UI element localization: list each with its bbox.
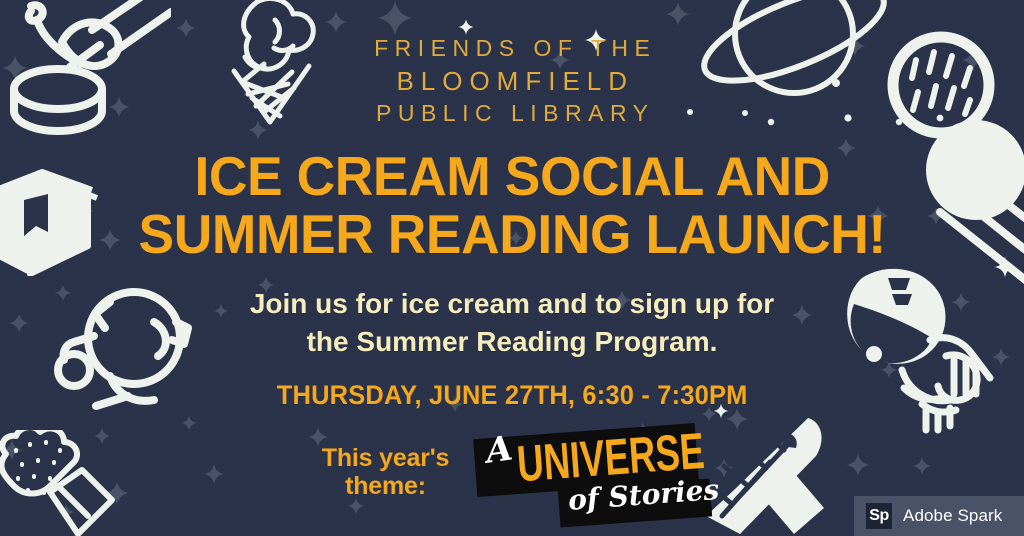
- org-line-3: PUBLIC LIBRARY: [368, 98, 657, 129]
- event-subtitle: Join us for ice cream and to sign up for…: [250, 285, 774, 359]
- event-datetime: THURSDAY, JUNE 27TH, 6:30 - 7:30PM: [277, 380, 748, 411]
- adobe-spark-watermark[interactable]: Sp Adobe Spark: [854, 496, 1024, 536]
- org-line-2: BLOOMFIELD: [368, 64, 657, 99]
- poster-content: FRIENDS OF THE BLOOMFIELD PUBLIC LIBRARY…: [0, 0, 1024, 536]
- subtitle-line-2: the Summer Reading Program.: [250, 323, 774, 360]
- org-line-1: FRIENDS OF THE: [368, 33, 657, 64]
- poster-canvas: FRIENDS OF THE BLOOMFIELD PUBLIC LIBRARY…: [0, 0, 1024, 536]
- headline-line-2: SUMMER READING LAUNCH!: [138, 205, 885, 263]
- subtitle-line-1: Join us for ice cream and to sign up for: [250, 285, 774, 322]
- event-headline: ICE CREAM SOCIAL AND SUMMER READING LAUN…: [138, 147, 885, 264]
- headline-line-1: ICE CREAM SOCIAL AND: [138, 147, 885, 205]
- adobe-spark-label: Adobe Spark: [903, 506, 1002, 526]
- adobe-spark-icon: Sp: [866, 503, 892, 529]
- organization-name: FRIENDS OF THE BLOOMFIELD PUBLIC LIBRARY: [368, 33, 657, 129]
